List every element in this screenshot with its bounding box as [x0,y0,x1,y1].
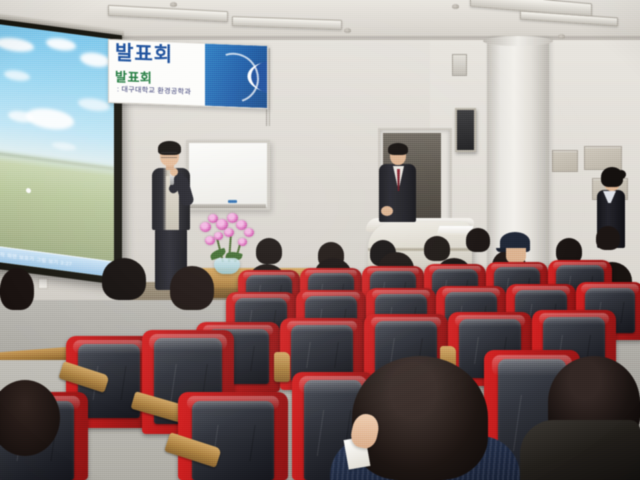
ceiling-speaker-icon [452,54,467,76]
structural-column [487,38,549,286]
banner-title: 발표회 [115,43,173,65]
armrest [274,352,290,382]
column-capital [483,36,553,46]
projected-highlight [26,188,31,194]
seat[interactable] [0,392,88,480]
banner-organization: : 대구대학교 환경공학과 [117,84,191,97]
seat[interactable] [484,350,580,480]
sprinkler-head [170,2,177,7]
whiteboard-tray [186,204,266,208]
lectern-trim [368,248,472,251]
taskbar-text: 시작 화면 보호기 그림 보기 3:27 [0,251,72,268]
wall-panel [552,150,578,172]
horizon-line [0,151,114,170]
seat[interactable] [292,372,374,480]
projection-screen: 시작 화면 보호기 그림 보기 3:27 [0,18,122,285]
banner-swoosh-arc [201,44,267,109]
seat[interactable] [364,314,448,386]
projected-image: 시작 화면 보호기 그림 보기 3:27 [0,23,114,277]
sprinkler-head [558,34,565,39]
wall-panel [592,178,628,200]
power-outlet-icon [38,278,48,289]
armrest [440,346,456,376]
auditorium-photo: 시작 화면 보호기 그림 보기 3:27 발표회 발표회 : 대구대학교 환경공… [0,0,640,480]
wall-speaker-icon [455,108,476,152]
sprinkler-head [344,28,351,33]
lectern-papers [437,226,474,235]
marker-icon [228,200,237,203]
banner-swoosh-graphic [205,44,267,108]
sprinkler-head [452,4,459,9]
seat[interactable] [178,392,288,480]
event-banner: 발표회 발표회 : 대구대학교 환경공학과 [108,39,268,109]
wall-panel [584,146,622,170]
